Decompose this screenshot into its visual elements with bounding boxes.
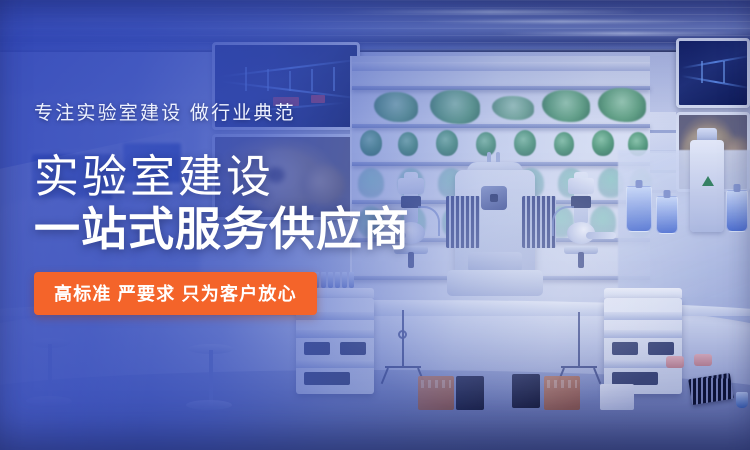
promo-banner: 专注实验室建设 做行业典范 实验室建设 一站式服务供应商 高标准 严要求 只为客… <box>0 0 750 450</box>
banner-headline-line2: 一站式服务供应商 <box>34 205 454 255</box>
banner-copy-block: 专注实验室建设 做行业典范 实验室建设 一站式服务供应商 高标准 严要求 只为客… <box>34 98 454 315</box>
banner-tagline: 专注实验室建设 做行业典范 <box>34 98 454 125</box>
banner-headline-line1: 实验室建设 <box>34 153 454 201</box>
banner-slogan-badge[interactable]: 高标准 严要求 只为客户放心 <box>34 272 317 315</box>
